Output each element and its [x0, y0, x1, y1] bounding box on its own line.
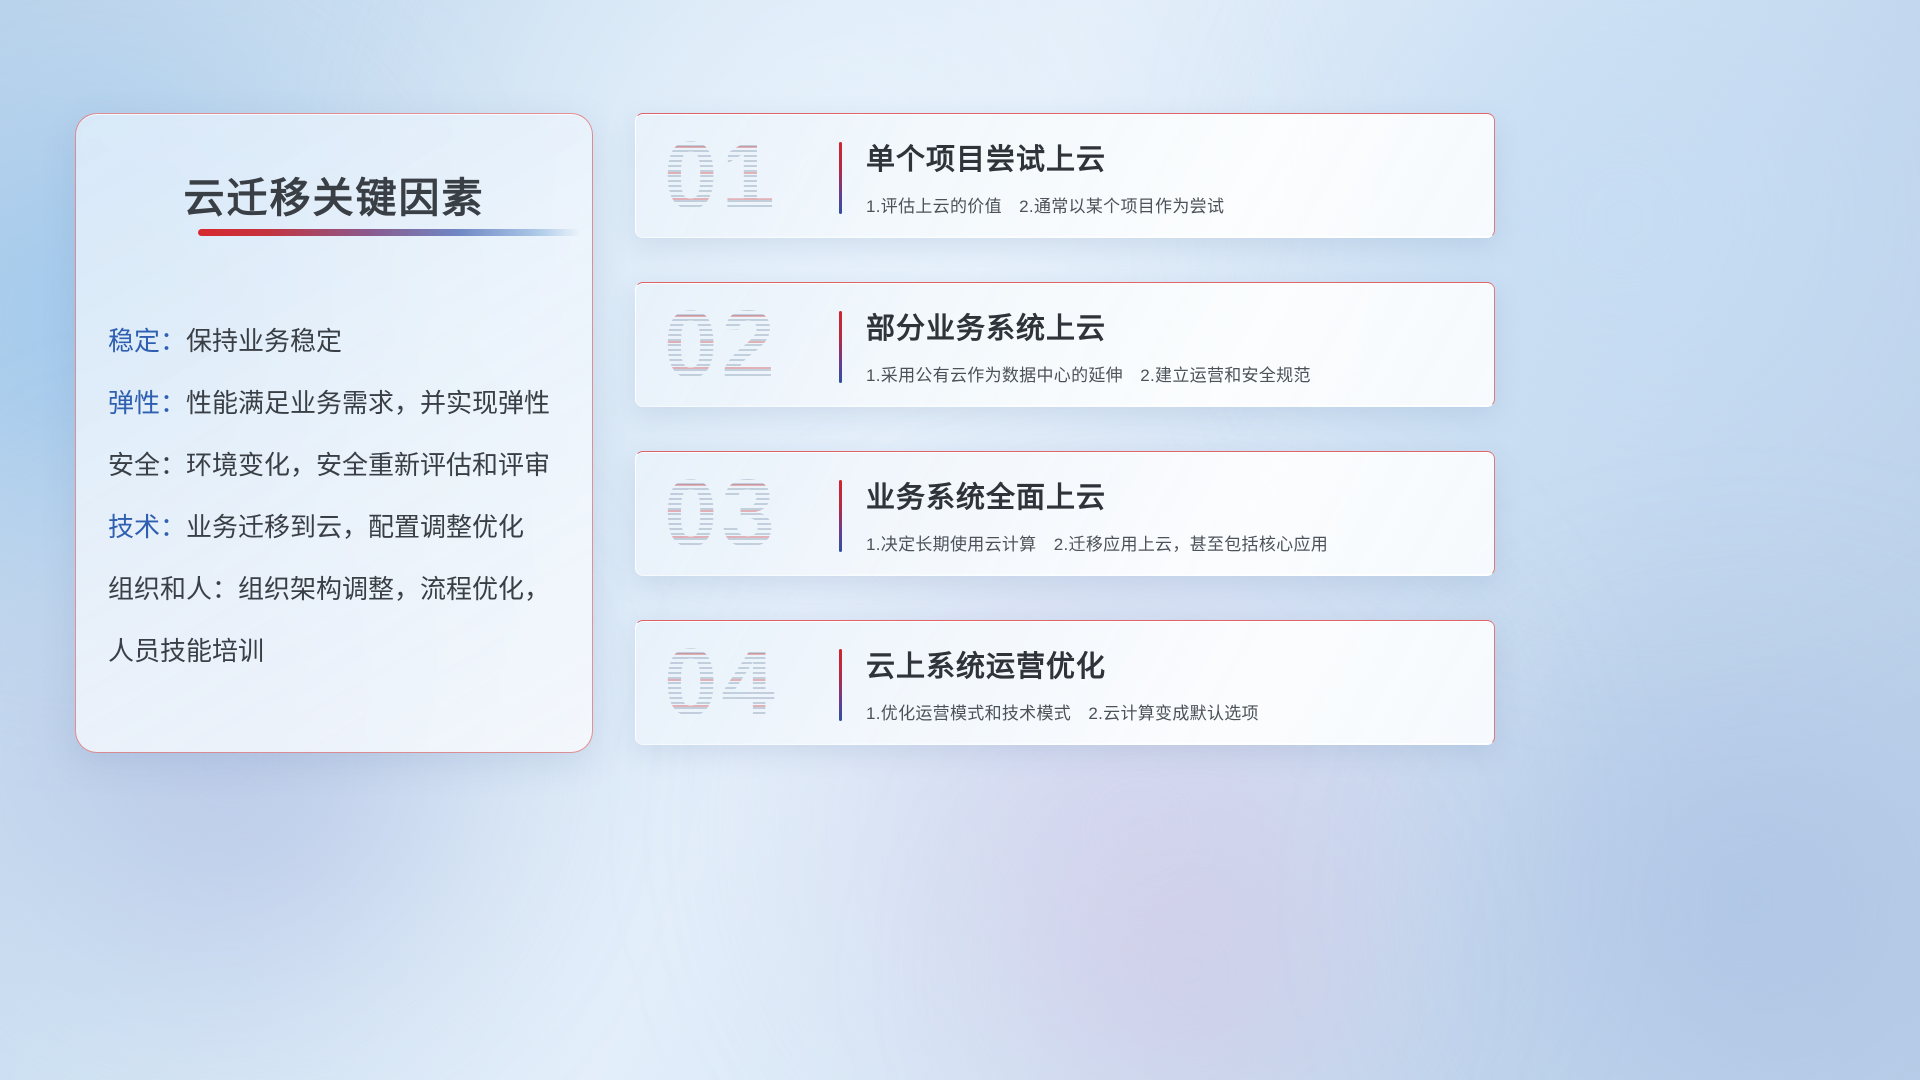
card-body: 业务系统全面上云1.决定长期使用云计算 2.迁移应用上云，甚至包括核心应用 [866, 474, 1470, 555]
key-factor-row: 技术：业务迁移到云，配置调整优化 [108, 496, 572, 558]
key-factor-row: 稳定：保持业务稳定 [108, 310, 572, 372]
stage-number: 04 [664, 627, 844, 739]
card-title: 云上系统运营优化 [866, 643, 1470, 685]
stage-card[interactable]: 0404云上系统运营优化1.优化运营模式和技术模式 2.云计算变成默认选项 [635, 620, 1495, 745]
card-description: 1.优化运营模式和技术模式 2.云计算变成默认选项 [866, 699, 1470, 724]
key-factor-row: 安全：环境变化，安全重新评估和评审 [108, 434, 572, 496]
stage-number: 01 [664, 120, 844, 232]
key-factor-value: 组织架构调整，流程优化， [238, 574, 550, 604]
card-divider-bar [839, 649, 842, 721]
key-factor-label: 稳定： [108, 326, 186, 356]
card-body: 部分业务系统上云1.采用公有云作为数据中心的延伸 2.建立运营和安全规范 [866, 305, 1470, 386]
key-factor-label: 弹性： [108, 388, 186, 418]
card-body: 单个项目尝试上云1.评估上云的价值 2.通常以某个项目作为尝试 [866, 136, 1470, 217]
card-description: 1.采用公有云作为数据中心的延伸 2.建立运营和安全规范 [866, 361, 1470, 386]
key-factor-value: 性能满足业务需求，并实现弹性 [186, 388, 550, 418]
slide-stage: 云迁移关键因素 稳定：保持业务稳定弹性：性能满足业务需求，并实现弹性安全：环境变… [0, 0, 1920, 1080]
key-factor-label: 安全： [108, 450, 186, 480]
key-factor-value: 保持业务稳定 [186, 326, 342, 356]
card-description: 1.决定长期使用云计算 2.迁移应用上云，甚至包括核心应用 [866, 530, 1470, 555]
card-divider-bar [839, 480, 842, 552]
stage-number: 03 [664, 458, 844, 570]
key-factors-list: 稳定：保持业务稳定弹性：性能满足业务需求，并实现弹性安全：环境变化，安全重新评估… [108, 310, 572, 682]
key-factor-value: 业务迁移到云，配置调整优化 [186, 512, 524, 542]
stage-card[interactable]: 0101单个项目尝试上云1.评估上云的价值 2.通常以某个项目作为尝试 [635, 113, 1495, 238]
card-body: 云上系统运营优化1.优化运营模式和技术模式 2.云计算变成默认选项 [866, 643, 1470, 724]
key-factor-row: 组织和人：组织架构调整，流程优化， [108, 558, 572, 620]
card-divider-bar [839, 142, 842, 214]
stage-number: 02 [664, 289, 844, 401]
key-factor-value: 人员技能培训 [108, 636, 264, 666]
key-factor-label: 技术： [108, 512, 186, 542]
key-factors-panel: 云迁移关键因素 稳定：保持业务稳定弹性：性能满足业务需求，并实现弹性安全：环境变… [75, 113, 593, 753]
key-factor-row: 弹性：性能满足业务需求，并实现弹性 [108, 372, 572, 434]
card-title: 业务系统全面上云 [866, 474, 1470, 516]
stage-cards-list: 0101单个项目尝试上云1.评估上云的价值 2.通常以某个项目作为尝试0202部… [635, 113, 1495, 789]
card-divider-bar [839, 311, 842, 383]
key-factor-label: 组织和人： [108, 574, 238, 604]
key-factor-row: 人员技能培训 [108, 620, 572, 682]
title-underline-rule [198, 229, 580, 236]
page-title: 云迁移关键因素 [76, 164, 592, 224]
card-description: 1.评估上云的价值 2.通常以某个项目作为尝试 [866, 192, 1470, 217]
stage-card[interactable]: 0202部分业务系统上云1.采用公有云作为数据中心的延伸 2.建立运营和安全规范 [635, 282, 1495, 407]
card-title: 单个项目尝试上云 [866, 136, 1470, 178]
card-title: 部分业务系统上云 [866, 305, 1470, 347]
key-factor-value: 环境变化，安全重新评估和评审 [186, 450, 550, 480]
stage-card[interactable]: 0303业务系统全面上云1.决定长期使用云计算 2.迁移应用上云，甚至包括核心应… [635, 451, 1495, 576]
